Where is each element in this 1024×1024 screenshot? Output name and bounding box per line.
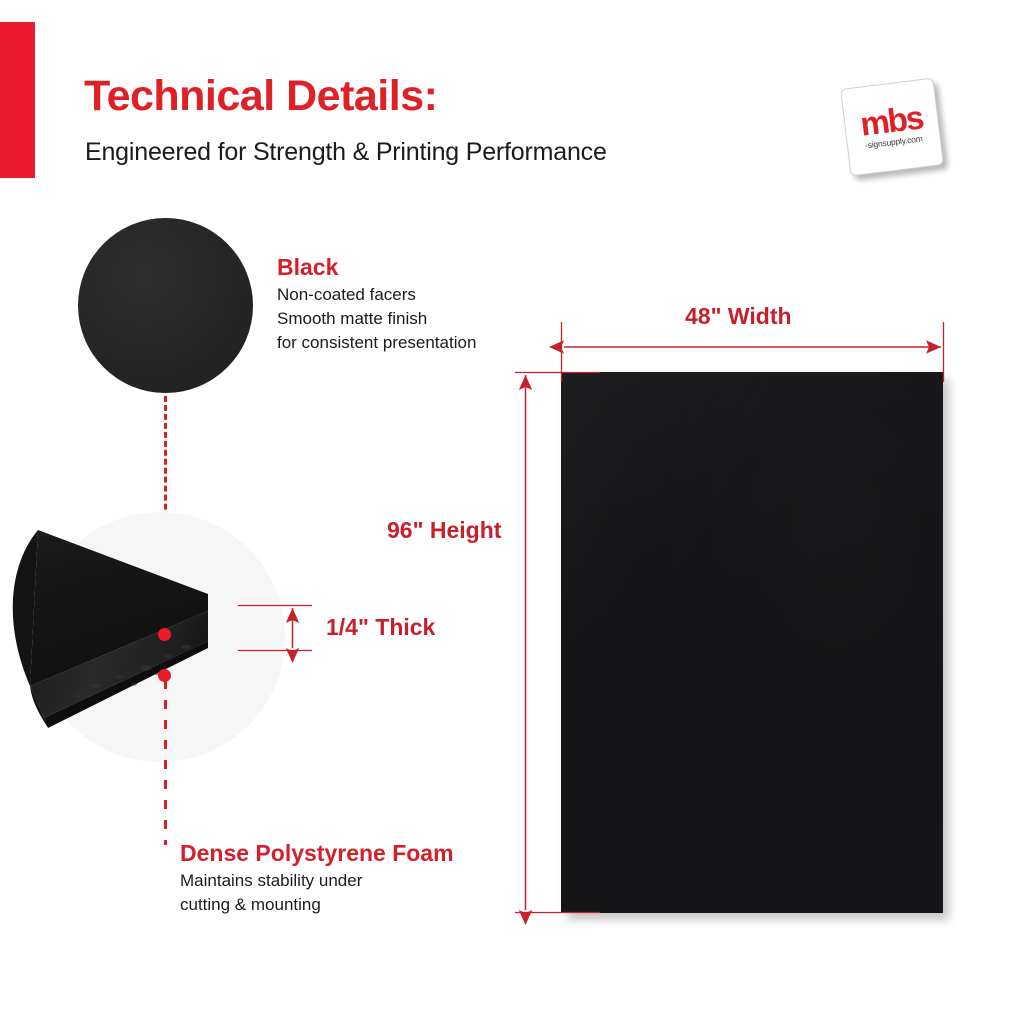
callout-black-heading: Black <box>277 254 476 281</box>
callout-foam-line-2: cutting & mounting <box>180 893 454 917</box>
marker-dot-facer <box>158 628 171 641</box>
callout-foam-heading: Dense Polystyrene Foam <box>180 840 454 867</box>
callout-dense-foam: Dense Polystyrene Foam Maintains stabili… <box>180 840 454 917</box>
callout-black-facer: Black Non-coated facers Smooth matte fin… <box>277 254 476 356</box>
page-subtitle: Engineered for Strength & Printing Perfo… <box>85 138 607 167</box>
brand-logo-inner: mbs -signsupply.com <box>841 79 943 176</box>
foam-board-panel <box>561 372 943 913</box>
brand-logo-wordmark: mbs <box>859 103 924 137</box>
callout-black-line-2: Smooth matte finish <box>277 307 476 331</box>
foam-edge-cutaway-illustration <box>0 496 330 786</box>
callout-black-line-1: Non-coated facers <box>277 283 476 307</box>
width-dimension-label: 48" Width <box>685 303 792 330</box>
thickness-dimension-label: 1/4" Thick <box>326 614 435 641</box>
infographic-canvas: Technical Details: Engineered for Streng… <box>0 0 1024 1024</box>
callout-foam-line-1: Maintains stability under <box>180 869 454 893</box>
marker-dot-core <box>158 669 171 682</box>
black-surface-swatch <box>78 218 253 393</box>
page-title: Technical Details: <box>84 72 437 121</box>
header-accent-bar <box>0 22 35 178</box>
brand-logo: mbs -signsupply.com <box>840 78 944 177</box>
callout-black-line-3: for consistent presentation <box>277 331 476 355</box>
callout-foam-body: Maintains stability under cutting & moun… <box>180 869 454 917</box>
callout-black-body: Non-coated facers Smooth matte finish fo… <box>277 283 476 355</box>
height-dimension-label: 96" Height <box>387 517 501 544</box>
